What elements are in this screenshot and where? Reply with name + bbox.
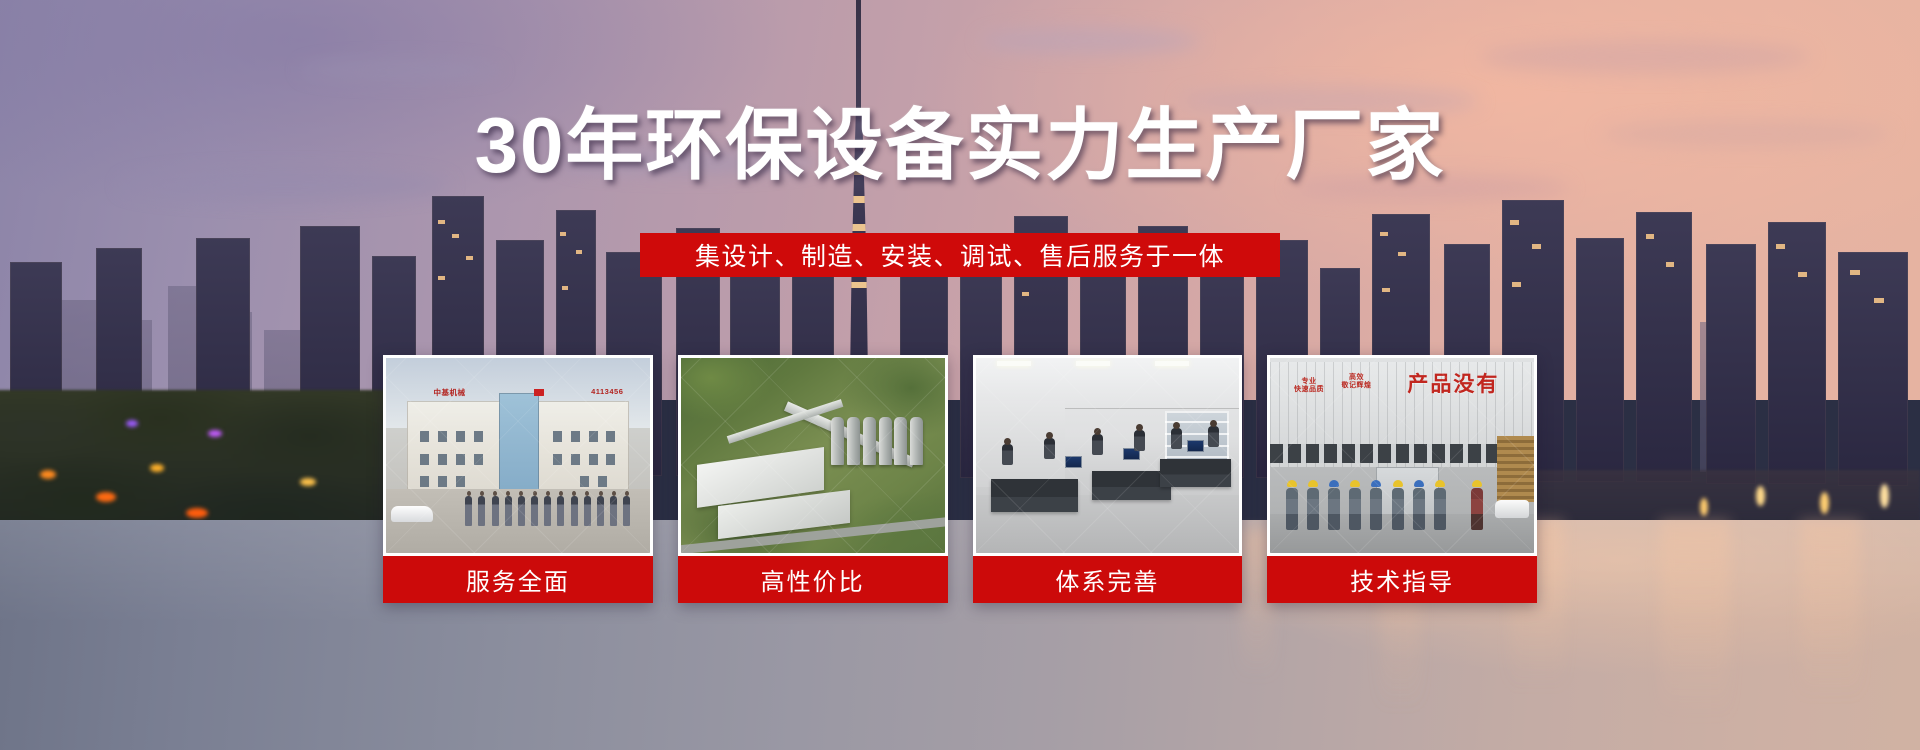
computer-monitor	[1065, 456, 1082, 468]
tree-light	[126, 420, 138, 427]
silo	[831, 417, 844, 465]
window-light	[560, 232, 566, 236]
staff-person	[505, 496, 512, 526]
parked-car	[391, 506, 433, 522]
tree-light	[40, 470, 56, 479]
staff-person	[571, 496, 578, 526]
window-light	[1666, 262, 1674, 267]
window-light	[1398, 252, 1406, 256]
staff-person	[531, 496, 538, 526]
tower-light-band	[846, 282, 872, 288]
window-light	[576, 250, 582, 254]
staff-person	[610, 496, 617, 526]
office-interior-with-staff-at-desks-photo	[976, 358, 1240, 553]
building	[1576, 238, 1624, 482]
staff-person	[518, 496, 525, 526]
silo	[894, 417, 907, 465]
stacked-lumber	[1497, 436, 1534, 502]
window-light	[562, 286, 568, 290]
ceiling-light	[1076, 361, 1110, 366]
window-light	[1512, 282, 1521, 287]
window-light	[1646, 234, 1654, 239]
slogan-line: 快速品质	[1294, 386, 1324, 395]
slogan-line: 专业	[1294, 378, 1324, 387]
tower-light-band	[846, 196, 872, 203]
tree-light	[150, 464, 164, 472]
tree-light	[300, 478, 316, 486]
worker	[1413, 488, 1425, 530]
worker	[1370, 488, 1382, 530]
factory-wall-slogan-small: 高效 敬记辉煌	[1341, 374, 1371, 392]
ceiling-light	[1155, 361, 1189, 366]
desk	[1160, 459, 1231, 486]
water-reflection-streak	[1660, 520, 1730, 720]
factory-workshop-with-workers-in-helmets-photo: 产品没有 专业 快速品质 高效 敬记辉煌	[1270, 358, 1534, 553]
worker	[1392, 488, 1404, 530]
desk	[1092, 471, 1171, 500]
slogan-line: 敬记辉煌	[1341, 382, 1371, 391]
office-worker	[1002, 444, 1013, 465]
feature-card[interactable]: 产品没有 专业 快速品质 高效 敬记辉煌	[1267, 355, 1537, 603]
office-worker	[1134, 430, 1145, 451]
building	[1768, 222, 1826, 484]
worker	[1328, 488, 1340, 530]
card-label-bar: 体系完善	[973, 556, 1243, 603]
factory-wall-slogan-large: 产品没有	[1407, 368, 1499, 398]
bank-light	[1880, 484, 1889, 508]
feature-card[interactable]: 体系完善	[973, 355, 1243, 603]
factory-rolling-door	[1376, 467, 1439, 518]
staff-person	[584, 496, 591, 526]
worker	[1434, 488, 1446, 530]
card-label-text: 技术指导	[1350, 562, 1454, 597]
staff-person	[478, 496, 485, 526]
card-label-bar: 技术指导	[1267, 556, 1537, 603]
staff-person	[623, 496, 630, 526]
office-worker	[1208, 426, 1219, 447]
ceiling-light	[997, 361, 1031, 366]
worker-supervisor	[1471, 488, 1483, 530]
staff-person	[465, 496, 472, 526]
subtitle-banner: 集设计、制造、安装、调试、售后服务于一体	[640, 233, 1280, 277]
card-label-bar: 高性价比	[678, 556, 948, 603]
window-light	[452, 234, 459, 238]
window-light	[466, 256, 473, 260]
window-light	[1022, 292, 1029, 296]
card-label-text: 高性价比	[761, 562, 865, 597]
building-phone-text: 4113456	[591, 387, 623, 396]
window-light	[1380, 232, 1388, 236]
building	[1838, 252, 1908, 486]
building	[1706, 244, 1756, 484]
water-reflection-streak	[1800, 520, 1860, 700]
feature-card-row: 中基机械 4113456 服务全面	[383, 355, 1537, 603]
window-light	[438, 220, 445, 224]
tree-light	[186, 508, 208, 518]
tower-light-band	[846, 224, 872, 231]
office-worker	[1044, 438, 1055, 459]
tree-light	[208, 430, 222, 437]
silo	[863, 417, 876, 465]
worker	[1349, 488, 1361, 530]
feature-card[interactable]: 中基机械 4113456 服务全面	[383, 355, 653, 603]
bank-light	[1756, 486, 1765, 506]
computer-monitor	[1187, 440, 1204, 452]
staff-person	[597, 496, 604, 526]
tree-light	[96, 492, 116, 502]
silo	[910, 417, 923, 465]
window-light	[1510, 220, 1519, 225]
card-label-text: 体系完善	[1055, 562, 1159, 597]
factory-wall-slogan-small: 专业 快速品质	[1294, 378, 1324, 396]
window-light	[1532, 244, 1541, 249]
card-label-bar: 服务全面	[383, 556, 653, 603]
hero-banner: 30年环保设备实力生产厂家 集设计、制造、安装、调试、售后服务于一体	[0, 0, 1920, 750]
subtitle-text: 集设计、制造、安装、调试、售后服务于一体	[695, 237, 1225, 273]
office-worker	[1092, 434, 1103, 455]
window-light	[1874, 298, 1884, 303]
building-sign-text: 中基机械	[433, 387, 465, 398]
window-light	[1776, 244, 1785, 249]
silo	[847, 417, 860, 465]
company-office-building-and-staff-photo: 中基机械 4113456	[386, 358, 650, 553]
factory-window-strip	[1270, 444, 1534, 464]
feature-card[interactable]: 高性价比	[678, 355, 948, 603]
bank-light	[1700, 498, 1708, 516]
flag	[534, 389, 544, 396]
window-light	[1798, 272, 1807, 277]
window-light	[438, 276, 445, 280]
staff-person	[557, 496, 564, 526]
aerial-view-of-production-plant-photo	[681, 358, 945, 553]
office-worker	[1171, 428, 1182, 449]
parked-van	[1495, 500, 1529, 518]
worker	[1286, 488, 1298, 530]
worker	[1307, 488, 1319, 530]
staff-person	[492, 496, 499, 526]
bank-light	[1820, 492, 1829, 514]
page-title: 30年环保设备实力生产厂家	[0, 106, 1920, 184]
building	[1636, 212, 1692, 482]
window-light	[1850, 270, 1860, 275]
desk	[991, 479, 1078, 512]
staff-person	[544, 496, 551, 526]
silo	[879, 417, 892, 465]
card-label-text: 服务全面	[466, 562, 570, 597]
window-light	[1382, 288, 1390, 292]
